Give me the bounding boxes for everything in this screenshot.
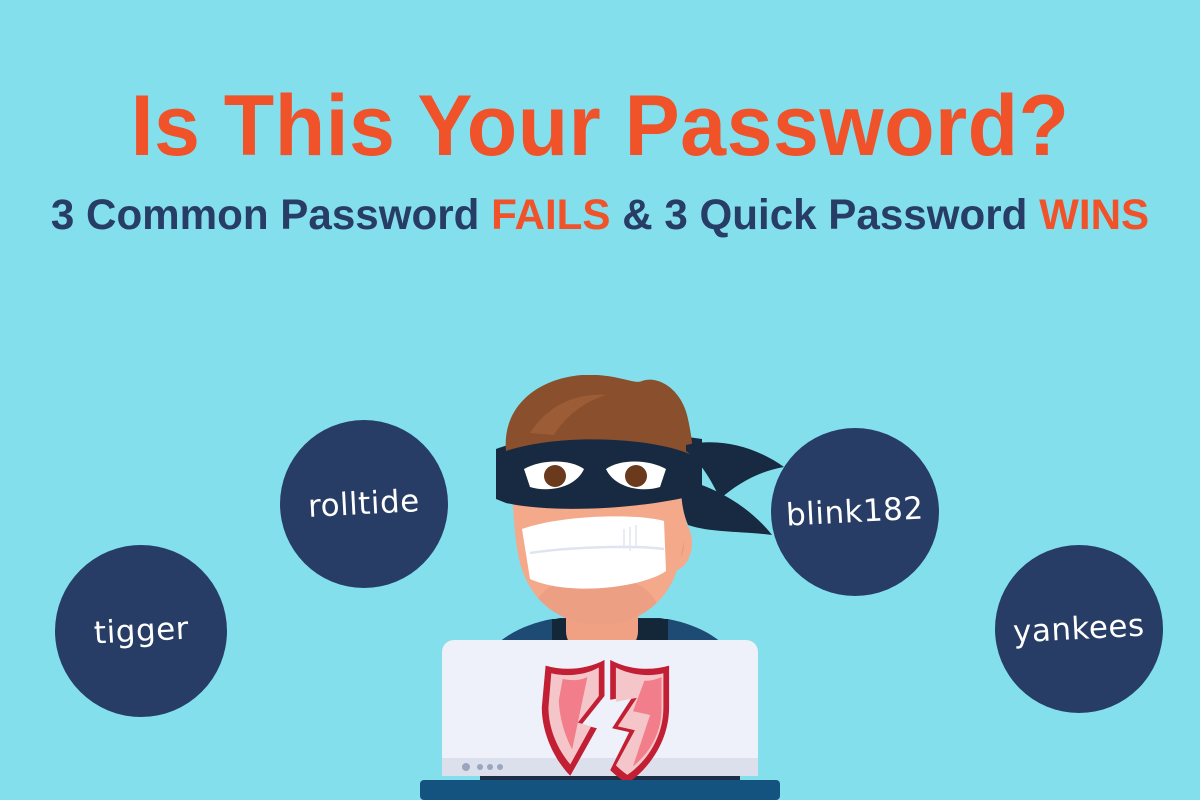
headline-block: Is This Your Password? 3 Common Password… [0, 86, 1200, 237]
subtitle-highlight-fails: FAILS [491, 191, 610, 239]
password-bubble-label: yankees [1012, 610, 1145, 648]
page-subtitle: 3 Common Password FAILS & 3 Quick Passwo… [12, 194, 1188, 237]
password-bubble-label: blink182 [785, 493, 924, 531]
poster-canvas: Is This Your Password? 3 Common Password… [0, 0, 1200, 800]
password-bubble-yankees: yankees [995, 545, 1163, 713]
laptop-status-dot [462, 763, 470, 771]
hacker-bandana-tails [681, 442, 784, 535]
password-bubble-tigger: tigger [55, 545, 227, 717]
hacker-grin [522, 516, 666, 588]
laptop-screen [442, 640, 758, 776]
password-bubble-label: tigger [93, 613, 189, 649]
page-title: Is This Your Password? [24, 86, 1176, 168]
subtitle-part-1: 3 Common Password [51, 191, 491, 239]
hacker-head [496, 375, 702, 647]
laptop-base [420, 780, 780, 800]
password-bubble-label: rolltide [307, 486, 420, 523]
subtitle-part-2: & 3 Quick Password [611, 191, 1040, 239]
subtitle-highlight-wins: WINS [1039, 191, 1149, 239]
open-laptop [420, 640, 780, 800]
